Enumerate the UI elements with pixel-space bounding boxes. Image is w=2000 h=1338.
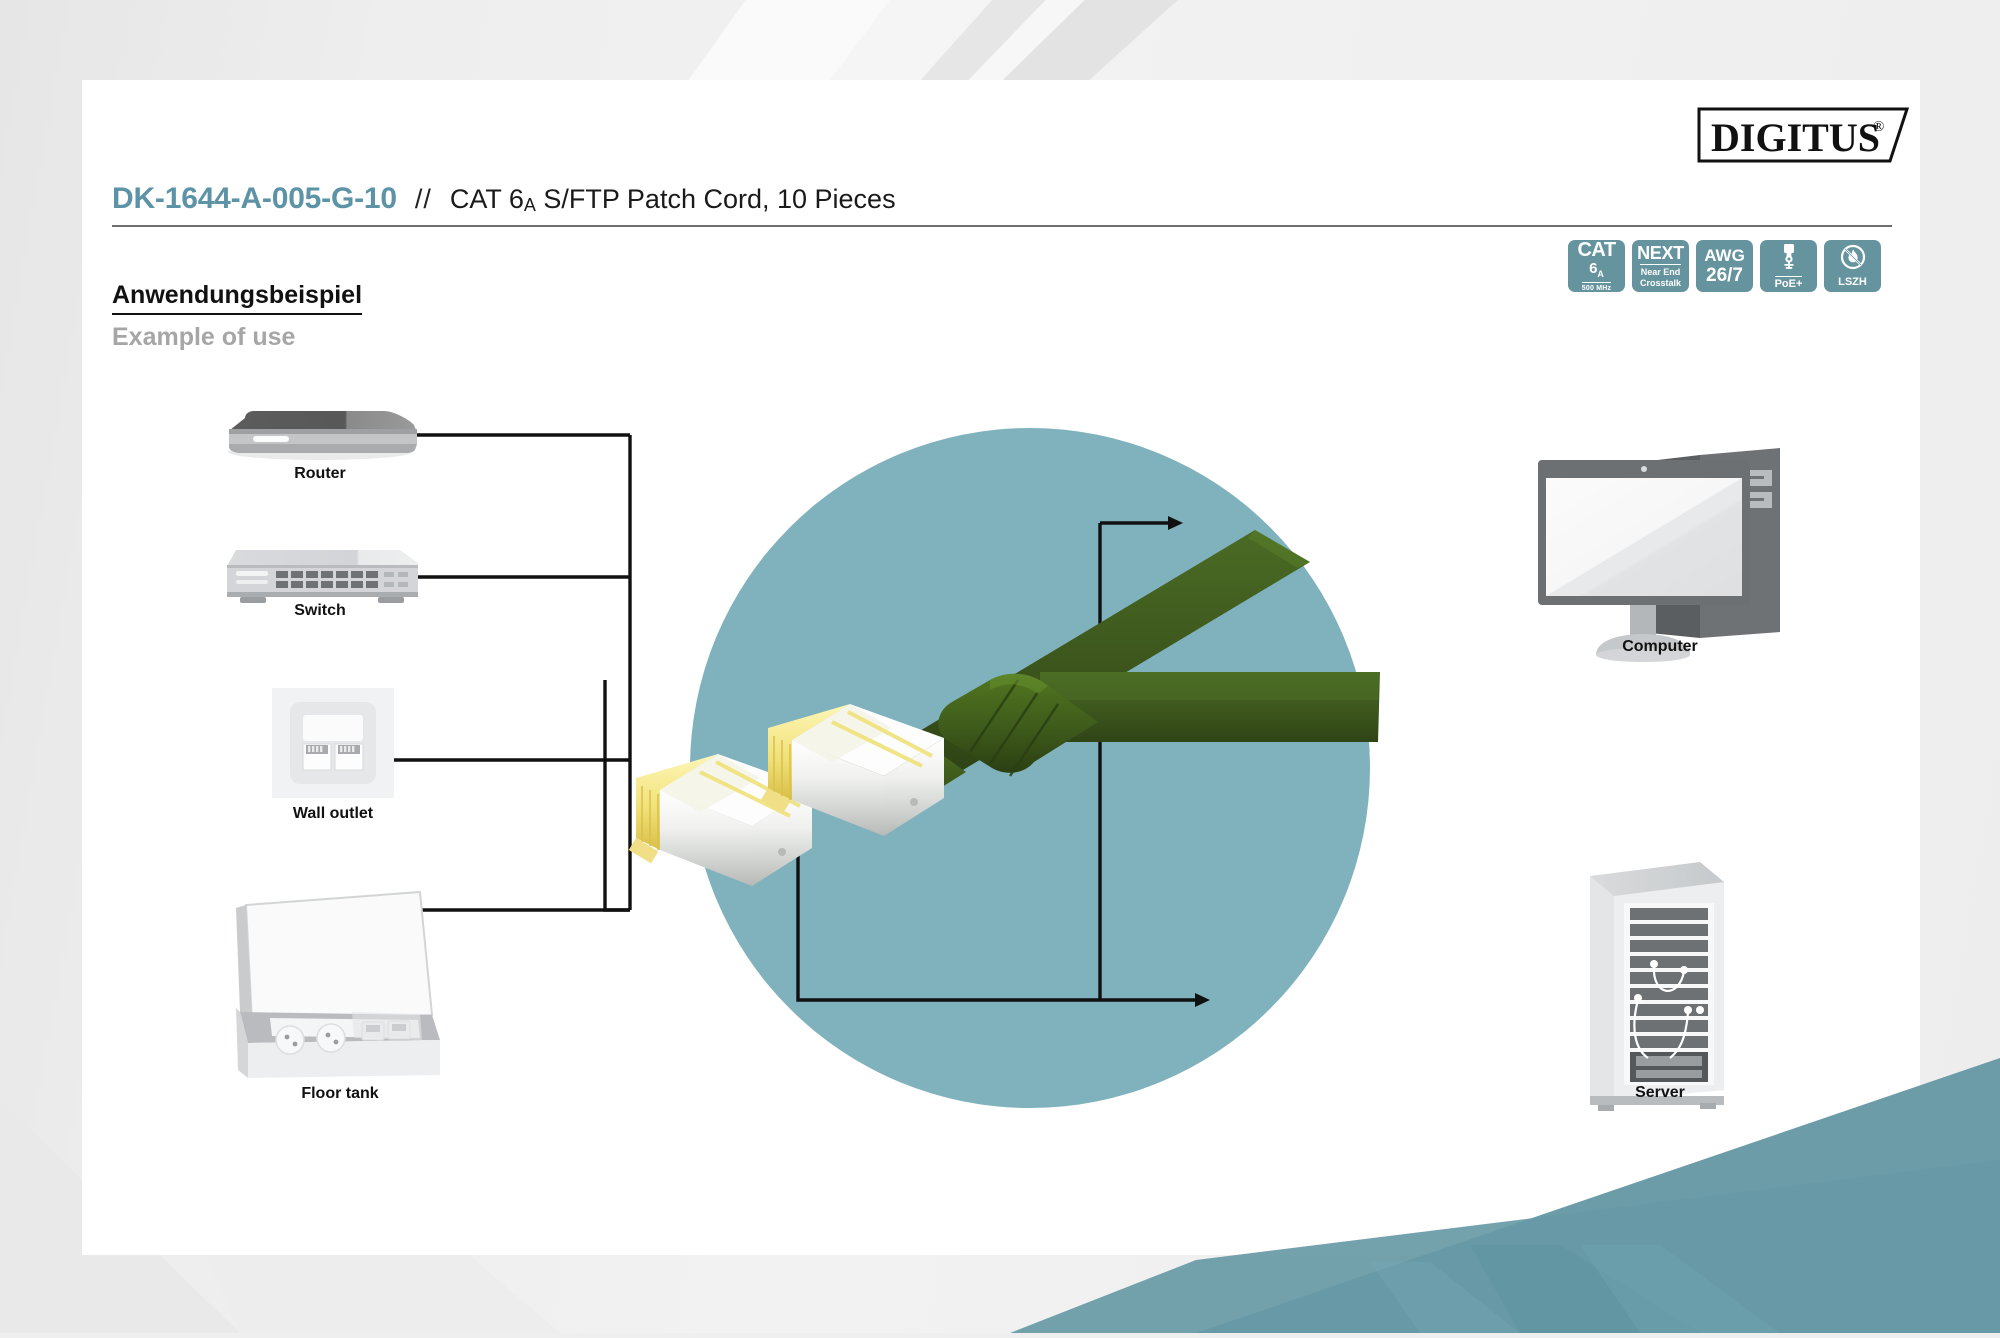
router-icon	[228, 411, 417, 460]
switch-label: Switch	[190, 602, 450, 620]
server-label: Server	[1530, 1084, 1790, 1102]
computer-label: Computer	[1530, 638, 1790, 656]
router-label: Router	[190, 465, 450, 483]
application-diagram	[0, 0, 2000, 1333]
floor-tank-icon	[236, 892, 440, 1078]
wall-outlet-icon	[272, 688, 394, 798]
wall-outlet-label: Wall outlet	[203, 805, 463, 823]
server-icon	[1590, 862, 1724, 1111]
floor-tank-label: Floor tank	[210, 1085, 470, 1103]
left-connector-lines	[325, 435, 630, 910]
computer-icon	[1538, 448, 1780, 662]
switch-icon	[227, 550, 418, 603]
